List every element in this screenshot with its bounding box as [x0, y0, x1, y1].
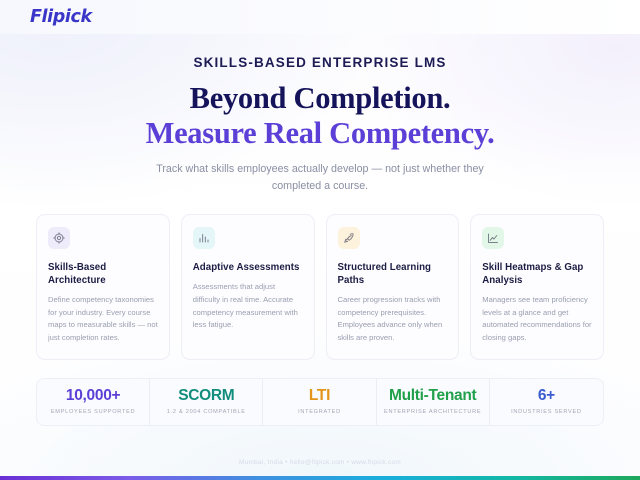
hero-subtitle: Track what skills employees actually dev…	[152, 161, 488, 196]
stats-bar: 10,000+ EMPLOYEES SUPPORTED SCORM 1.2 & …	[36, 378, 604, 426]
target-icon	[53, 232, 65, 244]
stat-label: INDUSTRIES SERVED	[511, 409, 582, 415]
feature-card[interactable]: Structured Learning Paths Career progres…	[326, 214, 460, 359]
stat-value: 10,000+	[66, 388, 120, 404]
card-icon-wrapper	[48, 227, 70, 249]
card-title: Adaptive Assessments	[193, 262, 303, 275]
hero-eyebrow: SKILLS-BASED ENTERPRISE LMS	[0, 55, 640, 70]
bar-chart-icon	[198, 232, 210, 244]
feature-card[interactable]: Skill Heatmaps & Gap Analysis Managers s…	[470, 214, 604, 359]
stat-label: 1.2 & 2004 COMPATIBLE	[167, 409, 246, 415]
page-footer: Mumbai, India • hello@flipick.com • www.…	[0, 451, 640, 469]
card-icon-wrapper	[482, 227, 504, 249]
flipick-logo[interactable]: Flipick	[30, 7, 92, 27]
hero-section: SKILLS-BASED ENTERPRISE LMS Beyond Compl…	[0, 34, 640, 195]
card-description: Managers see team proficiency levels at …	[482, 294, 592, 345]
feature-card[interactable]: Adaptive Assessments Assessments that ad…	[181, 214, 315, 359]
headline-line-2: Measure Real Competency.	[0, 116, 640, 151]
footer-contact-line[interactable]: Mumbai, India • hello@flipick.com • www.…	[239, 459, 401, 466]
feature-card-grid: Skills-Based Architecture Define compete…	[36, 214, 604, 359]
card-description: Assessments that adjust difficulty in re…	[193, 281, 303, 332]
card-description: Career progression tracks with competenc…	[338, 294, 448, 345]
stat-item: 6+ INDUSTRIES SERVED	[490, 379, 603, 425]
stat-value: 6+	[538, 388, 555, 404]
stat-item: 10,000+ EMPLOYEES SUPPORTED	[37, 379, 150, 425]
rocket-icon	[343, 232, 355, 244]
stat-item: Multi-Tenant ENTERPRISE ARCHITECTURE	[377, 379, 490, 425]
page-title: Beyond Completion. Measure Real Competen…	[0, 81, 640, 152]
stat-label: EMPLOYEES SUPPORTED	[51, 409, 135, 415]
card-icon-wrapper	[338, 227, 360, 249]
card-title: Skill Heatmaps & Gap Analysis	[482, 262, 592, 288]
trending-up-icon	[487, 232, 499, 244]
card-title: Skills-Based Architecture	[48, 262, 158, 288]
card-description: Define competency taxonomies for your in…	[48, 294, 158, 345]
feature-card[interactable]: Skills-Based Architecture Define compete…	[36, 214, 170, 359]
accent-gradient-bar	[0, 476, 640, 480]
stat-value: LTI	[309, 388, 330, 404]
stat-label: ENTERPRISE ARCHITECTURE	[384, 409, 481, 415]
stat-value: Multi-Tenant	[389, 388, 476, 404]
stat-item: LTI INTEGRATED	[263, 379, 376, 425]
card-icon-wrapper	[193, 227, 215, 249]
stat-value: SCORM	[178, 388, 234, 404]
card-title: Structured Learning Paths	[338, 262, 448, 288]
headline-line-1: Beyond Completion.	[0, 81, 640, 116]
page-header: Flipick	[0, 0, 640, 34]
stat-label: INTEGRATED	[298, 409, 341, 415]
stat-item: SCORM 1.2 & 2004 COMPATIBLE	[150, 379, 263, 425]
landing-page: Flipick SKILLS-BASED ENTERPRISE LMS Beyo…	[0, 0, 640, 480]
